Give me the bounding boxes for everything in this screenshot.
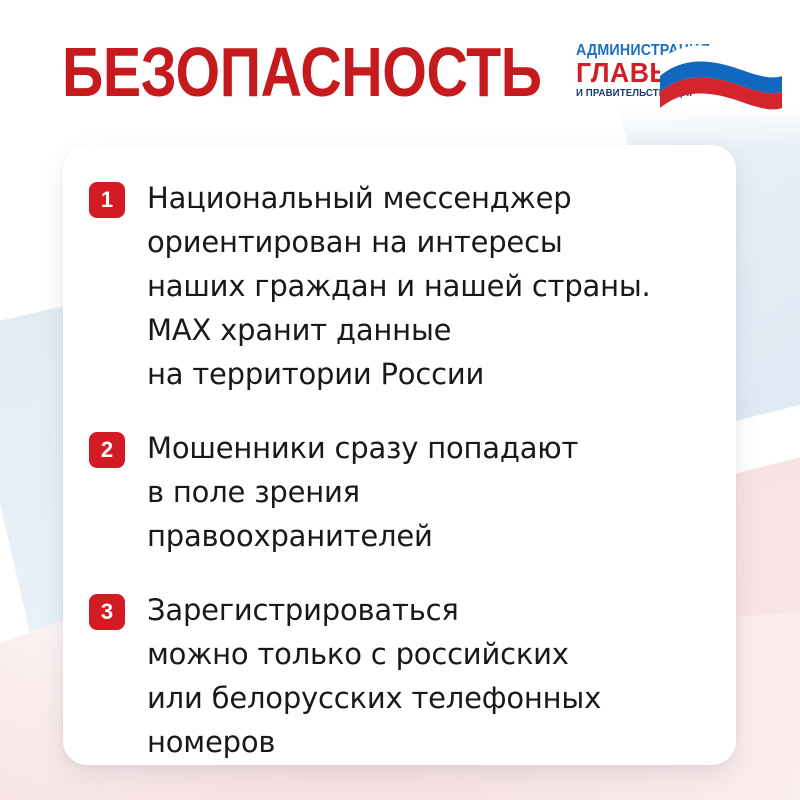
- list-item-number-badge: 3: [89, 594, 125, 630]
- russian-flag-wave-icon: [656, 38, 786, 121]
- content-card: 1 Национальный мессенджер ориентирован н…: [63, 145, 736, 765]
- list-item-text: Зарегистрироваться можно только с россий…: [147, 588, 718, 764]
- list-item-number-badge: 2: [89, 432, 125, 468]
- page-title: БЕЗОПАСНОСТЬ: [62, 36, 542, 108]
- list-item: 1 Национальный мессенджер ориентирован н…: [89, 176, 718, 396]
- list-item: 2 Мошенники сразу попадают в поле зрения…: [89, 426, 718, 558]
- safety-points-list: 1 Национальный мессенджер ориентирован н…: [89, 176, 718, 764]
- organization-logo: АДМИНИСТРАЦИЯ ГЛАВЫ И ПРАВИТЕЛЬСТВА ДНР: [566, 36, 791, 116]
- list-item-number-badge: 1: [89, 182, 125, 218]
- poster-canvas: БЕЗОПАСНОСТЬ АДМИНИСТРАЦИЯ ГЛАВЫ И ПРАВИ…: [0, 0, 800, 800]
- list-item-text: Национальный мессенджер ориентирован на …: [147, 176, 718, 396]
- list-item-text: Мошенники сразу попадают в поле зрения п…: [147, 426, 718, 558]
- list-item: 3 Зарегистрироваться можно только с росс…: [89, 588, 718, 764]
